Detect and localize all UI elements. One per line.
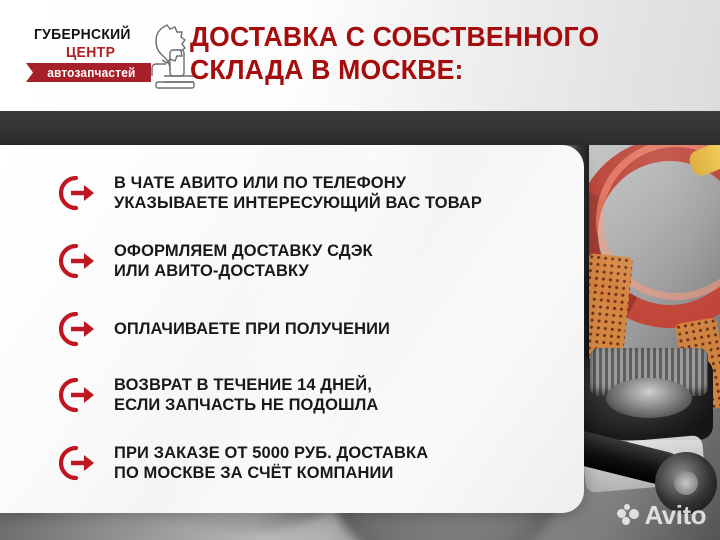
- list-item-label: Возврат в течение 14 дней, если запчасть…: [114, 375, 378, 415]
- list-item: Оплачиваете при получении: [0, 303, 584, 355]
- promo-banner: ГУБЕРНСКИЙ ЦЕНТР автозапчастей Доставка …: [0, 0, 720, 540]
- avito-dots-icon: [617, 504, 639, 526]
- circular-arrow-right-icon: [56, 375, 100, 415]
- logo-banner-label: автозапчастей: [42, 66, 135, 80]
- white-part: [582, 435, 706, 493]
- avito-watermark: Avito: [617, 502, 706, 528]
- list-item-label: Оплачиваете при получении: [114, 319, 390, 339]
- circular-arrow-right-icon: [56, 173, 100, 213]
- circular-arrow-right-icon: [56, 309, 100, 349]
- list-item: Оформляем доставку СДЭК или Авито-достав…: [0, 235, 584, 287]
- yellow-hose-segment: [687, 139, 720, 178]
- circular-arrow-right-icon: [56, 443, 100, 483]
- header: ГУБЕРНСКИЙ ЦЕНТР автозапчастей Доставка …: [0, 0, 720, 111]
- company-logo: ГУБЕРНСКИЙ ЦЕНТР автозапчастей: [26, 22, 176, 92]
- hub-body: [573, 358, 713, 440]
- orange-mesh-2: [675, 317, 720, 413]
- logo-banner: автозапчастей: [26, 63, 151, 82]
- divider-band: [0, 111, 720, 145]
- list-item-label: При заказе от 5000 руб. доставка по Моск…: [114, 443, 428, 483]
- list-item: В чате Авито или по телефону указываете …: [0, 167, 584, 219]
- logo-line-2: ЦЕНТР: [66, 44, 115, 61]
- list-item: Возврат в течение 14 дней, если запчасть…: [0, 369, 584, 421]
- list-item: При заказе от 5000 руб. доставка по Моск…: [0, 437, 584, 489]
- circular-arrow-right-icon: [56, 241, 100, 281]
- list-item-label: Оформляем доставку СДЭК или Авито-достав…: [114, 241, 373, 281]
- knurled-ring: [590, 348, 708, 396]
- steps-list: В чате Авито или по телефону указываете …: [0, 167, 584, 489]
- avito-label: Avito: [644, 502, 706, 528]
- hub-center-ring: [606, 378, 692, 418]
- list-item-label: В чате Авито или по телефону указываете …: [114, 173, 482, 213]
- red-hose-highlight: [575, 119, 720, 321]
- orange-mesh-1: [578, 253, 634, 362]
- logo-line-1: ГУБЕРНСКИЙ: [34, 26, 131, 43]
- content-panel: В чате Авито или по телефону указываете …: [0, 145, 584, 513]
- page-title: Доставка с собственного склада в Москве:: [190, 20, 675, 86]
